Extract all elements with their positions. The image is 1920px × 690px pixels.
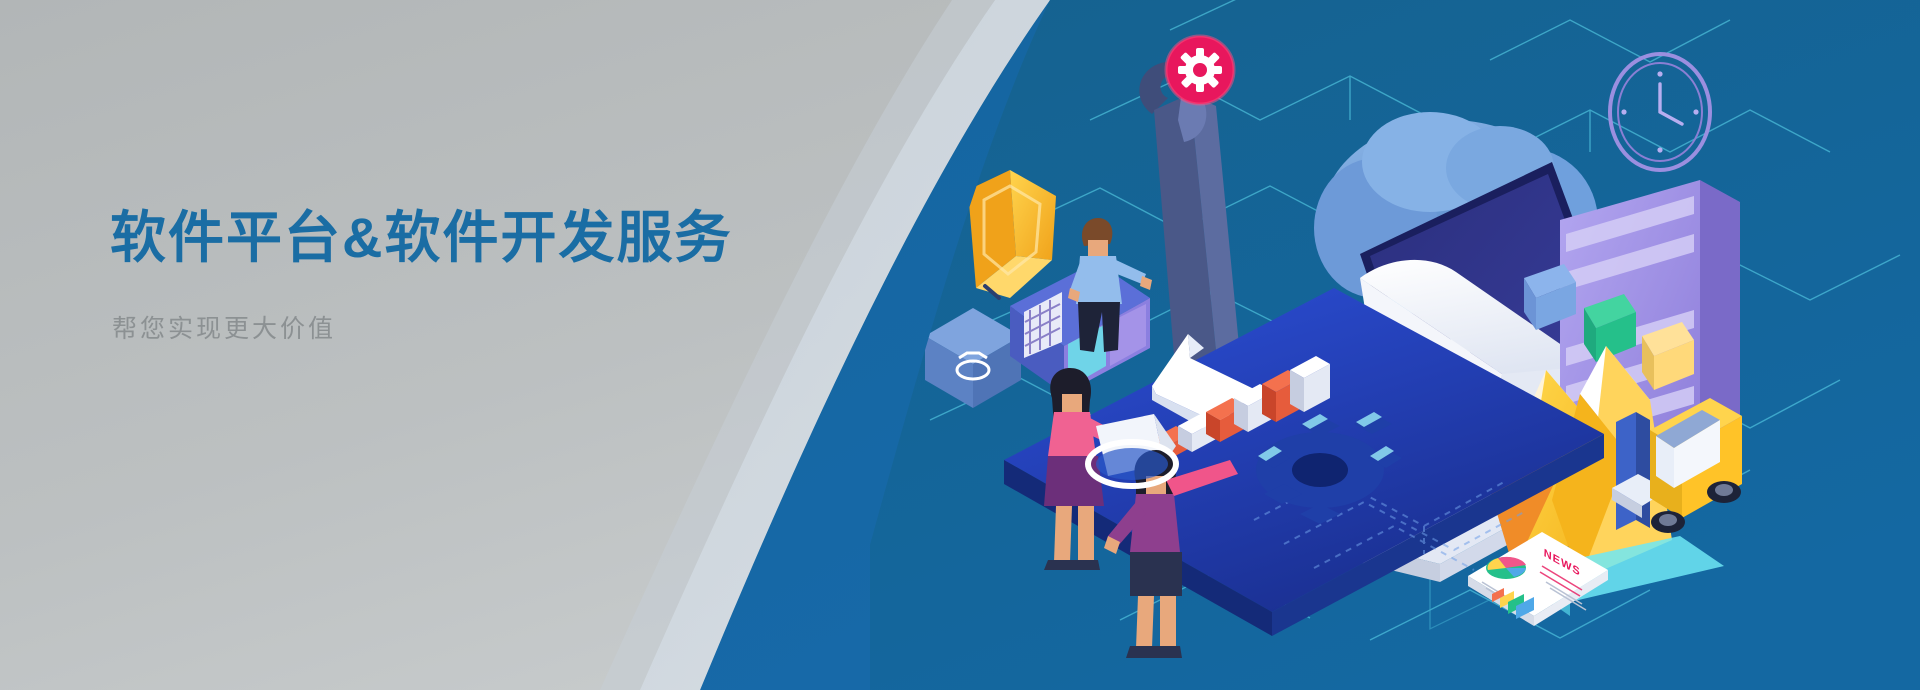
- illustration-isometric-scene: NEWS: [870, 0, 1920, 690]
- page-title: 软件平台&软件开发服务: [110, 205, 810, 271]
- page-subtitle: 帮您实现更大价值: [112, 309, 810, 345]
- banner-text-block: 软件平台&软件开发服务 帮您实现更大价值: [110, 205, 810, 345]
- magnifying-glass-icon: [1088, 442, 1176, 486]
- pie-chart: [1486, 557, 1526, 579]
- hero-banner: NEWS: [0, 0, 1920, 690]
- gear-icon: [1166, 36, 1234, 104]
